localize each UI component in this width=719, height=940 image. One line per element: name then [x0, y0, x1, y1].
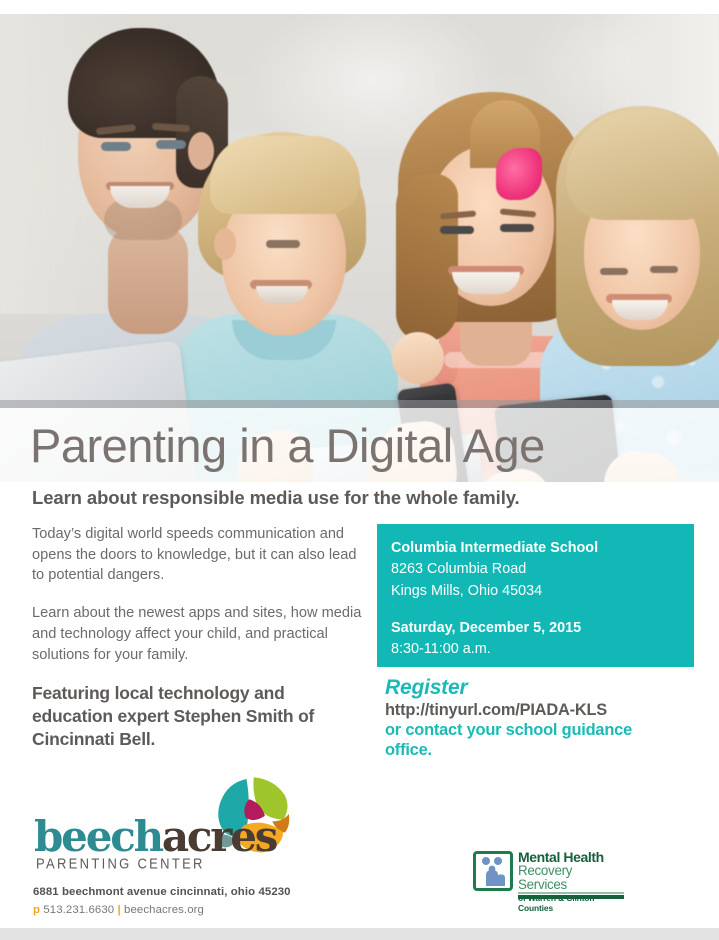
father-ear	[188, 132, 214, 170]
register-heading: Register	[385, 676, 705, 700]
body-paragraph-1: Today’s digital world speeds communicati…	[32, 524, 362, 586]
event-date: Saturday, December 5, 2015	[391, 618, 694, 639]
boy-eye	[266, 240, 300, 248]
mother-hand-upper	[392, 332, 444, 384]
mhrs-wordmark: Mental Health Recovery Services of Warre…	[518, 850, 624, 913]
title-band-shadow	[0, 400, 719, 408]
event-details-box: Columbia Intermediate School 8263 Columb…	[377, 524, 694, 667]
body-paragraph-2: Learn about the newest apps and sites, h…	[32, 603, 362, 665]
father-neck	[108, 224, 188, 334]
title-band: Parenting in a Digital Age	[0, 408, 719, 482]
page-title: Parenting in a Digital Age	[0, 422, 545, 469]
beech-acres-tagline: PARENTING CENTER	[36, 855, 205, 872]
footer-street-address: 6881 beechmont avenue cincinnati, ohio 4…	[33, 884, 291, 902]
footer-contact-info: 6881 beechmont avenue cincinnati, ohio 4…	[33, 884, 291, 919]
girl-eye-left	[600, 268, 628, 275]
family-figures-icon	[476, 854, 510, 888]
mhrs-rule-dark	[518, 895, 624, 899]
beech-acres-wordmark: beechacres	[34, 816, 276, 858]
body-copy-column: Today’s digital world speeds communicati…	[32, 524, 362, 751]
mhrs-line-recovery-services: Recovery Services	[518, 864, 624, 892]
subheading: Learn about responsible media use for th…	[32, 487, 692, 509]
father-eye-right	[156, 140, 186, 149]
beech-acres-logo: beechacres PARENTING CENTER	[34, 768, 324, 868]
boy-ear	[214, 228, 236, 260]
venue-city-state-zip: Kings Mills, Ohio 45034	[391, 581, 694, 602]
mother-hair-side	[396, 174, 458, 342]
mhrs-family-icon-frame	[473, 851, 513, 891]
girl-eye-right	[650, 266, 678, 273]
mhrs-line-mental-health: Mental Health	[518, 850, 624, 864]
mother-eye-right	[500, 224, 534, 232]
logo-word-beech: beech	[34, 812, 162, 861]
flyer-page: Parenting in a Digital Age Learn about r…	[0, 0, 719, 940]
featured-speaker-text: Featuring local technology and education…	[32, 682, 362, 750]
footer-website-link[interactable]: beechacres.org	[124, 904, 204, 916]
mother-eye-left	[440, 226, 474, 234]
event-time: 8:30-11:00 a.m.	[391, 639, 694, 660]
register-url-link[interactable]: http://tinyurl.com/PIADA-KLS	[385, 701, 705, 720]
boy-hair-fringe	[210, 136, 360, 214]
phone-prefix-label: p	[33, 904, 40, 916]
register-alternate-note: or contact your school guidance office.	[385, 720, 675, 760]
footer-separator: |	[117, 904, 120, 916]
mental-health-recovery-services-logo: Mental Health Recovery Services of Warre…	[473, 851, 623, 903]
registration-block: Register http://tinyurl.com/PIADA-KLS or…	[385, 676, 705, 760]
venue-street: 8263 Columbia Road	[391, 559, 694, 580]
girl-hair-bow	[496, 148, 542, 200]
girl-hair-fringe	[566, 110, 719, 220]
venue-name: Columbia Intermediate School	[391, 538, 694, 559]
info-box-spacer	[391, 602, 694, 618]
father-eye-left	[101, 142, 131, 151]
footer-phone-and-web: p 513.231.6630 | beechacres.org	[33, 902, 291, 920]
mhrs-rule-light	[518, 892, 624, 894]
logo-word-acres: acres	[162, 812, 276, 861]
page-bottom-bar	[0, 928, 719, 940]
footer-phone-number: 513.231.6630	[43, 904, 114, 916]
